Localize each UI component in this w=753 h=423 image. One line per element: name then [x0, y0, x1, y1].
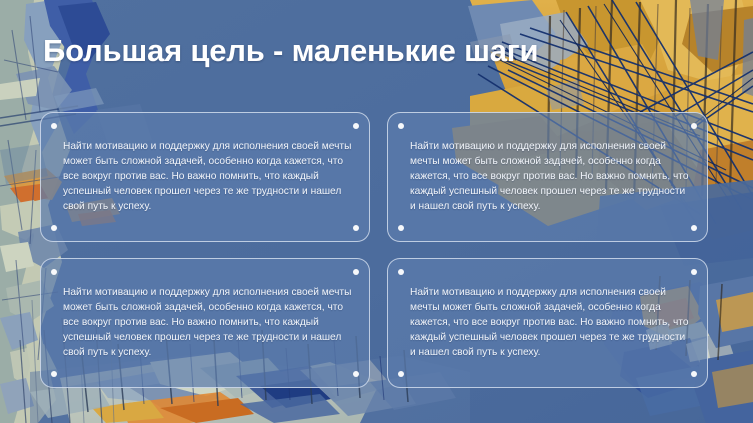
- corner-dot-icon: [691, 123, 697, 129]
- text-card-3[interactable]: Найти мотивацию и поддержку для исполнен…: [40, 258, 370, 388]
- card-body-text: Найти мотивацию и поддержку для исполнен…: [63, 139, 355, 214]
- corner-dot-icon: [51, 371, 57, 377]
- corner-dot-icon: [398, 371, 404, 377]
- corner-dot-icon: [51, 225, 57, 231]
- corner-dot-icon: [353, 269, 359, 275]
- card-body-text: Найти мотивацию и поддержку для исполнен…: [410, 285, 693, 360]
- slide-canvas: Большая цель - маленькие шаги Найти моти…: [0, 0, 753, 423]
- corner-dot-icon: [691, 269, 697, 275]
- corner-dot-icon: [353, 371, 359, 377]
- corner-dot-icon: [398, 225, 404, 231]
- corner-dot-icon: [398, 269, 404, 275]
- corner-dot-icon: [353, 225, 359, 231]
- corner-dot-icon: [691, 371, 697, 377]
- corner-dot-icon: [398, 123, 404, 129]
- corner-dot-icon: [691, 225, 697, 231]
- text-card-2[interactable]: Найти мотивацию и поддержку для исполнен…: [387, 112, 708, 242]
- slide-title: Большая цель - маленькие шаги: [43, 33, 538, 69]
- card-body-text: Найти мотивацию и поддержку для исполнен…: [410, 139, 693, 214]
- text-card-1[interactable]: Найти мотивацию и поддержку для исполнен…: [40, 112, 370, 242]
- corner-dot-icon: [51, 269, 57, 275]
- corner-dot-icon: [51, 123, 57, 129]
- corner-dot-icon: [353, 123, 359, 129]
- text-card-4[interactable]: Найти мотивацию и поддержку для исполнен…: [387, 258, 708, 388]
- card-body-text: Найти мотивацию и поддержку для исполнен…: [63, 285, 355, 360]
